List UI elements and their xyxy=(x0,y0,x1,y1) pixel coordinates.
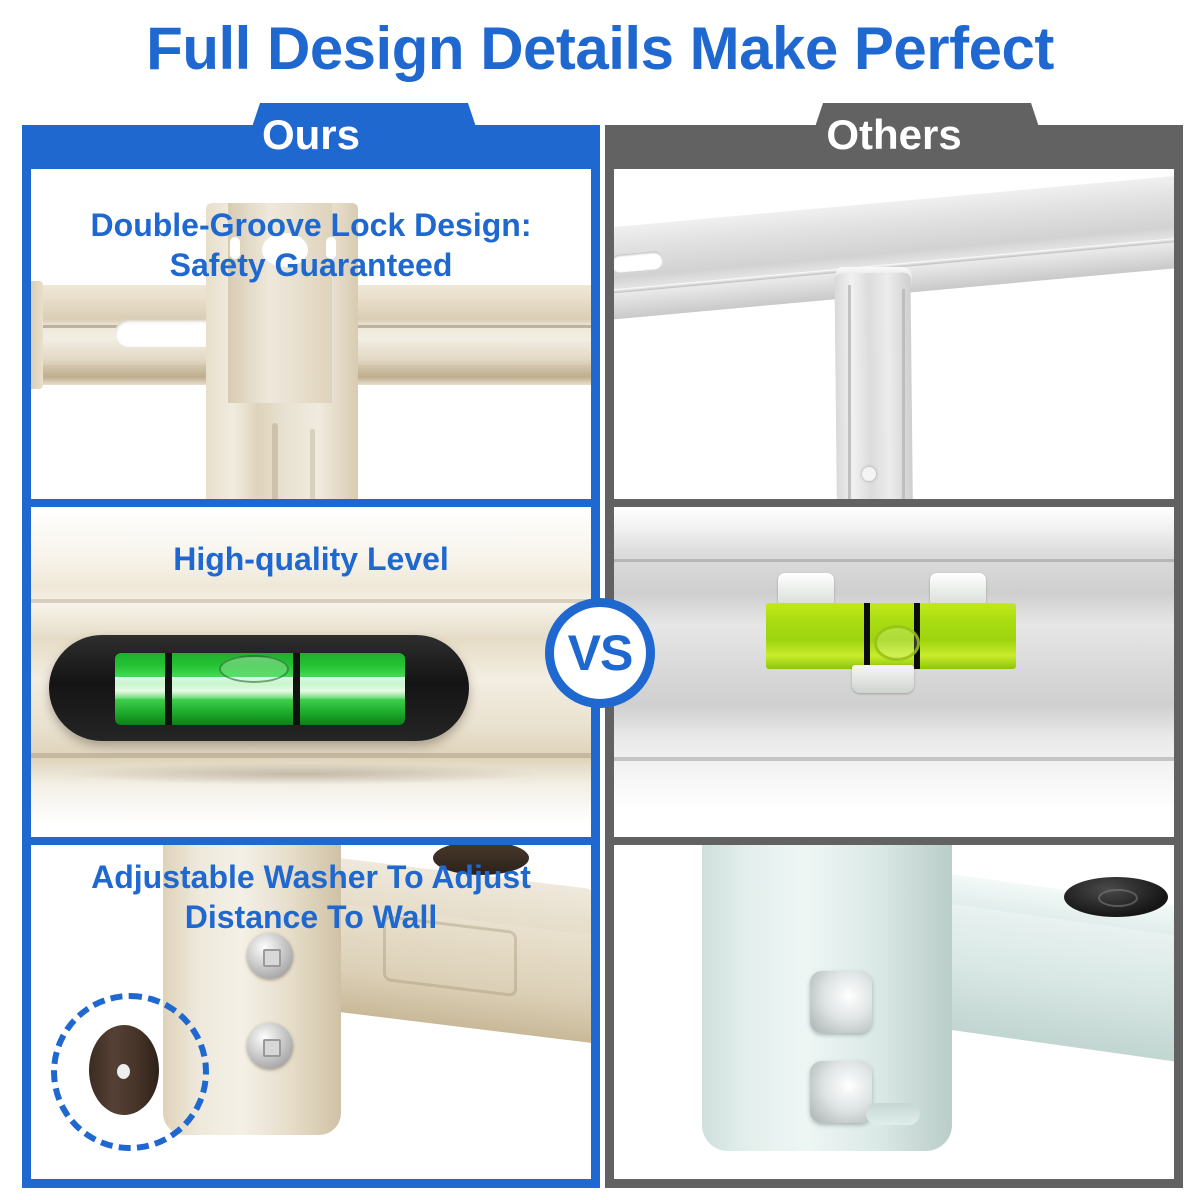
vial-right-marker xyxy=(293,653,300,725)
black-knob-icon xyxy=(1064,877,1168,917)
others-panel-2 xyxy=(614,507,1174,837)
vs-badge: VS xyxy=(545,598,655,708)
small-level-vial-icon xyxy=(766,603,1016,669)
page-title: Full Design Details Make Perfect xyxy=(0,14,1200,83)
rail-end-cap-icon xyxy=(31,281,43,389)
vial-clip-left-icon xyxy=(778,573,834,607)
vial-bubble-icon xyxy=(874,625,920,661)
hex-screw-lower-icon xyxy=(247,1023,293,1069)
rail-slot-icon xyxy=(614,251,664,274)
vial-clip-bottom-icon xyxy=(852,665,914,693)
ours-washer-illustration xyxy=(31,845,591,1179)
bar-bottom-edge-line xyxy=(614,757,1174,761)
hex-screw-upper-icon xyxy=(247,933,293,979)
ours-rail-bracket-illustration xyxy=(31,169,591,499)
bar-shadow xyxy=(61,763,541,785)
vial-left-marker xyxy=(165,653,172,725)
ours-column: Ours Double-Groove Lock Design: Safety G… xyxy=(22,125,600,1188)
ours-bubble-level-illustration xyxy=(31,507,591,837)
bracket-rib-icon xyxy=(272,423,278,499)
ours-tab-label: Ours xyxy=(22,101,600,169)
level-vial-icon xyxy=(115,653,405,725)
others-level-illustration xyxy=(614,507,1174,837)
level-housing-icon xyxy=(49,635,469,741)
ours-panel-3: Adjustable Washer To Adjust Distance To … xyxy=(31,845,591,1179)
bracket-edge-line-left xyxy=(848,285,851,499)
vial-bubble-icon xyxy=(219,655,289,683)
bracket-rib-secondary-icon xyxy=(310,429,315,499)
ours-panel-2: High-quality Level xyxy=(31,507,591,837)
bracket-rivet-icon xyxy=(862,467,876,481)
vial-clip-right-icon xyxy=(930,573,986,607)
bracket-left-groove-icon xyxy=(230,237,240,259)
bracket-right-groove-icon xyxy=(326,237,336,259)
highlight-dashed-circle xyxy=(51,993,209,1151)
bar-top-edge-line xyxy=(614,559,1174,562)
others-rail-bracket-illustration xyxy=(614,169,1174,499)
others-panel-1 xyxy=(614,169,1174,499)
bracket-hole-icon xyxy=(262,233,308,267)
others-bracket-bolts-illustration xyxy=(614,845,1174,1179)
chrome-hex-bolt-lower-icon xyxy=(810,1061,872,1123)
others-tab-label: Others xyxy=(605,101,1183,169)
vertical-bracket-icon xyxy=(206,203,358,499)
vial-left-marker xyxy=(864,603,870,669)
chrome-hex-bolt-upper-icon xyxy=(810,971,872,1033)
post-slot-icon xyxy=(866,1103,920,1125)
bracket-edge-line-right xyxy=(902,289,905,499)
others-column: Others xyxy=(605,125,1183,1188)
ours-panel-1: Double-Groove Lock Design: Safety Guaran… xyxy=(31,169,591,499)
bar-bottom-edge-line xyxy=(31,753,591,758)
others-panel-3 xyxy=(614,845,1174,1179)
bar-top-edge-line xyxy=(31,599,591,603)
